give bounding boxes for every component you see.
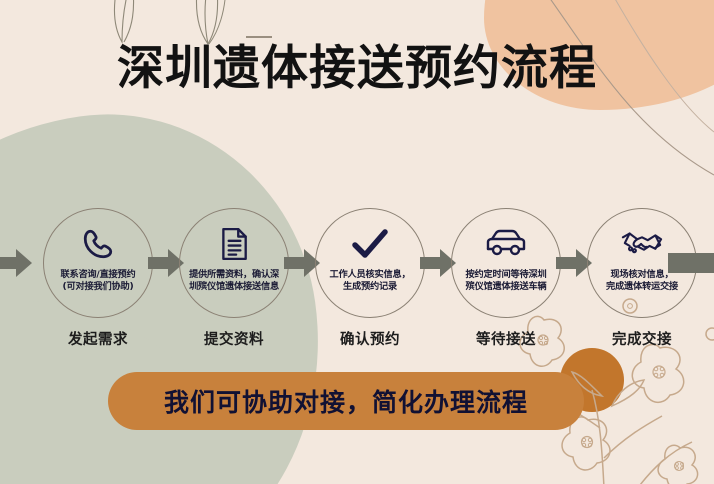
step-description-line1: 提供所需资料，确认深 bbox=[176, 269, 292, 281]
document-icon bbox=[218, 221, 250, 267]
step-description: 按约定时间等待深圳 殡仪馆遗体接送车辆 bbox=[448, 269, 564, 294]
flow-step-4[interactable]: 按约定时间等待深圳 殡仪馆遗体接送车辆 等待接送 bbox=[444, 208, 568, 358]
step-description-line2: 圳殡仪馆遗体接送信息 bbox=[176, 281, 292, 293]
step-label: 确认预约 bbox=[308, 328, 432, 349]
checkmark-icon bbox=[351, 221, 389, 267]
step-circle: 按约定时间等待深圳 殡仪馆遗体接送车辆 bbox=[451, 208, 561, 318]
flow-step-5[interactable]: 现场核对信息， 完成遗体转运交接 完成交接 bbox=[580, 208, 704, 358]
flow-arrow-truncated bbox=[668, 253, 714, 273]
process-flow: 联系咨询/直接预约 (可对接我们协助) 发起需求 bbox=[0, 208, 714, 358]
call-to-action-banner[interactable]: 我们可协助对接，简化办理流程 bbox=[108, 372, 584, 430]
banner-label: 我们可协助对接，简化办理流程 bbox=[164, 383, 528, 419]
step-circle: 工作人员核实信息， 生成预约记录 bbox=[315, 208, 425, 318]
flow-step-2[interactable]: 提供所需资料，确认深 圳殡仪馆遗体接送信息 提交资料 bbox=[172, 208, 296, 358]
step-label: 提交资料 bbox=[172, 328, 296, 349]
step-description-line2: 完成遗体转运交接 bbox=[584, 281, 700, 293]
step-label: 等待接送 bbox=[444, 328, 568, 349]
page-title: 深圳遗体接送预约流程 bbox=[0, 44, 714, 95]
step-circle: 联系咨询/直接预约 (可对接我们协助) bbox=[43, 208, 153, 318]
step-description: 联系咨询/直接预约 (可对接我们协助) bbox=[40, 269, 156, 294]
infographic-poster: 深圳遗体接送预约流程 联系咨询/直接预约 (可对接我们协助) 发起需求 bbox=[0, 0, 714, 484]
flow-arrow bbox=[0, 248, 32, 278]
step-description-line2: 生成预约记录 bbox=[312, 281, 428, 293]
handshake-icon bbox=[621, 221, 663, 267]
step-label: 发起需求 bbox=[36, 328, 160, 349]
step-description-line2: 殡仪馆遗体接送车辆 bbox=[448, 281, 564, 293]
flow-step-3[interactable]: 工作人员核实信息， 生成预约记录 确认预约 bbox=[308, 208, 432, 358]
flow-step-1[interactable]: 联系咨询/直接预约 (可对接我们协助) 发起需求 bbox=[36, 208, 160, 358]
step-description-line1: 工作人员核实信息， bbox=[312, 269, 428, 281]
step-label: 完成交接 bbox=[580, 328, 704, 349]
step-description: 工作人员核实信息， 生成预约记录 bbox=[312, 269, 428, 294]
car-icon bbox=[485, 221, 527, 267]
step-description-line1: 按约定时间等待深圳 bbox=[448, 269, 564, 281]
phone-icon bbox=[81, 221, 115, 267]
step-description-line1: 联系咨询/直接预约 bbox=[40, 269, 156, 281]
step-description: 提供所需资料，确认深 圳殡仪馆遗体接送信息 bbox=[176, 269, 292, 294]
step-description-line2: (可对接我们协助) bbox=[40, 281, 156, 293]
dash-accent-mark bbox=[246, 36, 272, 38]
step-circle: 提供所需资料，确认深 圳殡仪馆遗体接送信息 bbox=[179, 208, 289, 318]
